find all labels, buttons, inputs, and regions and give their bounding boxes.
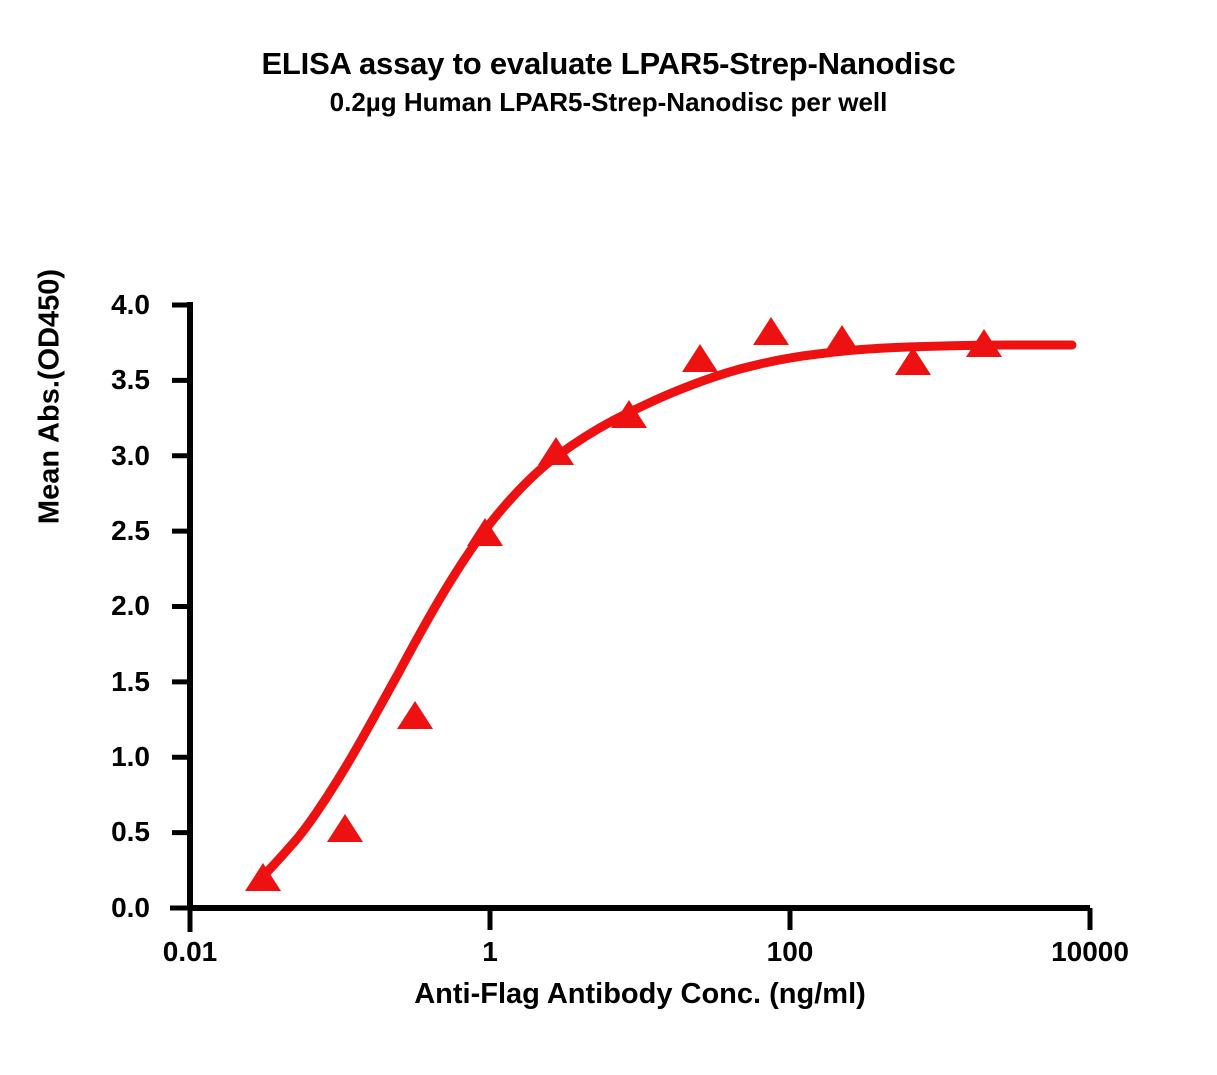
y-axis-label: Mean Abs.(OD450)	[34, 167, 67, 627]
data-point	[824, 325, 860, 353]
x-tick-label: 10000	[1010, 938, 1170, 966]
data-point	[753, 317, 789, 345]
y-tick-label: 2.0	[60, 592, 150, 620]
x-tick-label: 100	[710, 938, 870, 966]
y-tick-label: 4.0	[60, 291, 150, 319]
chart-figure: ELISA assay to evaluate LPAR5-Strep-Nano…	[0, 0, 1217, 1075]
data-point	[327, 814, 363, 842]
x-tick-label: 1	[410, 938, 570, 966]
y-tick-label: 2.5	[60, 517, 150, 545]
y-tick-label: 1.0	[60, 743, 150, 771]
data-point	[467, 518, 503, 546]
axes	[190, 302, 1090, 908]
x-axis-ticks	[190, 908, 1090, 932]
data-point	[682, 344, 718, 372]
x-tick-label: 0.01	[110, 938, 270, 966]
y-tick-label: 1.5	[60, 668, 150, 696]
data-point	[397, 701, 433, 729]
data-markers	[245, 317, 1002, 891]
y-tick-label: 3.5	[60, 366, 150, 394]
y-tick-label: 0.5	[60, 818, 150, 846]
fit-curve	[255, 345, 1072, 884]
plot-area: 0.0 0.5 1.0 1.5 2.0 2.5 3.0 3.5 4.0 0.01…	[0, 0, 1217, 1075]
y-tick-label: 3.0	[60, 442, 150, 470]
y-tick-label: 0.0	[60, 894, 150, 922]
x-axis-label: Anti-Flag Antibody Conc. (ng/ml)	[190, 978, 1090, 1011]
plot-svg	[0, 0, 1217, 1075]
